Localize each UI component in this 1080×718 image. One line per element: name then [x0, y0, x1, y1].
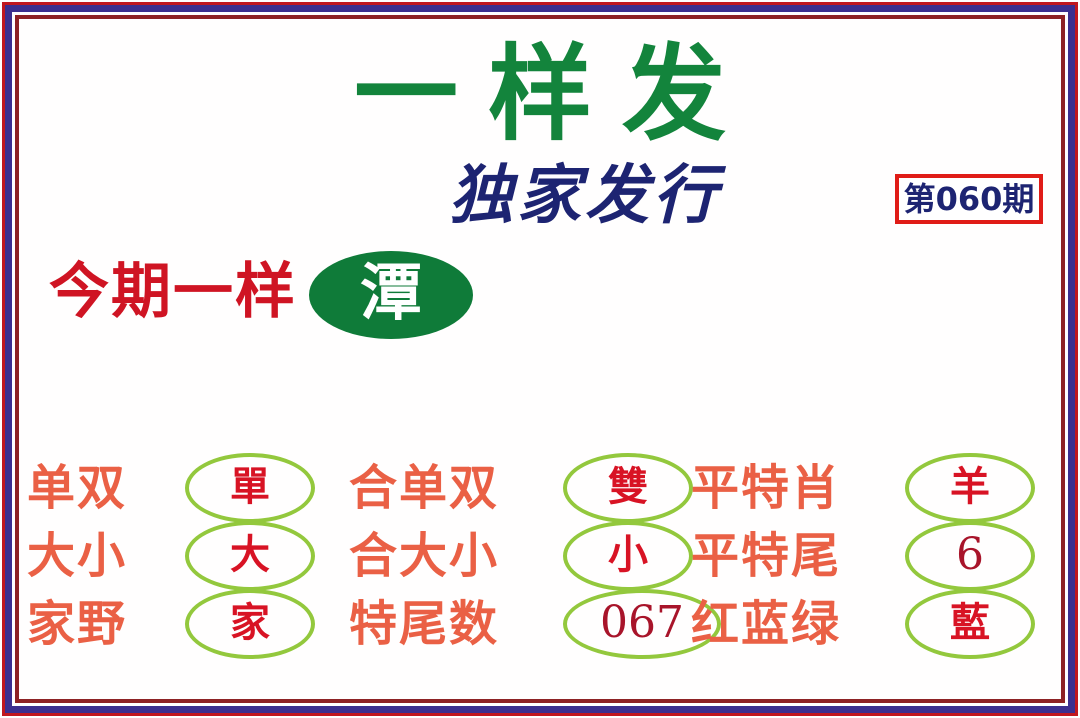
- results-column-left: 单双 單 大小 大 家野 家: [27, 449, 357, 669]
- result-row: 特尾数 067: [349, 593, 679, 655]
- result-value: 大: [230, 535, 270, 575]
- result-value: 單: [230, 467, 270, 507]
- poster-title: 一样发: [19, 37, 1061, 151]
- results-column-middle: 合单双 雙 合大小 小 特尾数 067: [349, 449, 679, 669]
- poster-canvas: 一样发 独家发行 第060期 今期一样 潭 单双 單: [19, 19, 1061, 699]
- result-label: 特尾数: [349, 600, 563, 648]
- period-value-badge: 潭: [309, 251, 473, 339]
- result-value: 雙: [608, 467, 648, 507]
- result-value: 067: [600, 601, 684, 645]
- result-row: 平特肖 羊: [691, 457, 1021, 519]
- result-label: 家野: [27, 600, 185, 648]
- period-label: 今期一样: [49, 259, 297, 325]
- result-value: 6: [956, 533, 984, 577]
- subtitle-row: 独家发行 第060期: [19, 161, 1061, 241]
- result-value-oval: 家: [185, 589, 315, 659]
- result-value: 羊: [950, 467, 990, 507]
- issue-number-label: 第060期: [904, 183, 1035, 215]
- result-label: 平特尾: [691, 532, 905, 580]
- result-row: 红蓝绿 藍: [691, 593, 1021, 655]
- result-label: 平特肖: [691, 464, 905, 512]
- result-value-oval: 雙: [563, 453, 693, 523]
- result-row: 合大小 小: [349, 525, 679, 587]
- result-value-oval: 藍: [905, 589, 1035, 659]
- result-value: 藍: [950, 603, 990, 643]
- poster-root: 一样发 独家发行 第060期 今期一样 潭 单双 單: [0, 0, 1080, 718]
- result-row: 家野 家: [27, 593, 357, 655]
- result-value: 小: [608, 535, 648, 575]
- period-row: 今期一样 潭: [19, 247, 1061, 357]
- result-row: 合单双 雙: [349, 457, 679, 519]
- result-row: 单双 單: [27, 457, 357, 519]
- result-row: 平特尾 6: [691, 525, 1021, 587]
- result-label: 合大小: [349, 532, 563, 580]
- result-value: 家: [230, 603, 270, 643]
- result-row: 大小 大: [27, 525, 357, 587]
- results-grid: 单双 單 大小 大 家野 家: [19, 449, 1061, 669]
- issue-badge: 第060期: [895, 174, 1043, 224]
- result-value-oval: 6: [905, 521, 1035, 591]
- period-value-text: 潭: [360, 262, 422, 324]
- result-label: 合单双: [349, 464, 563, 512]
- result-value-oval: 單: [185, 453, 315, 523]
- poster-subtitle: 独家发行: [449, 163, 721, 230]
- result-label: 红蓝绿: [691, 600, 905, 648]
- result-label: 大小: [27, 532, 185, 580]
- results-column-right: 平特肖 羊 平特尾 6 红蓝绿 藍: [691, 449, 1021, 669]
- result-value-oval: 小: [563, 521, 693, 591]
- result-value-oval: 羊: [905, 453, 1035, 523]
- result-value-oval: 大: [185, 521, 315, 591]
- result-label: 单双: [27, 464, 185, 512]
